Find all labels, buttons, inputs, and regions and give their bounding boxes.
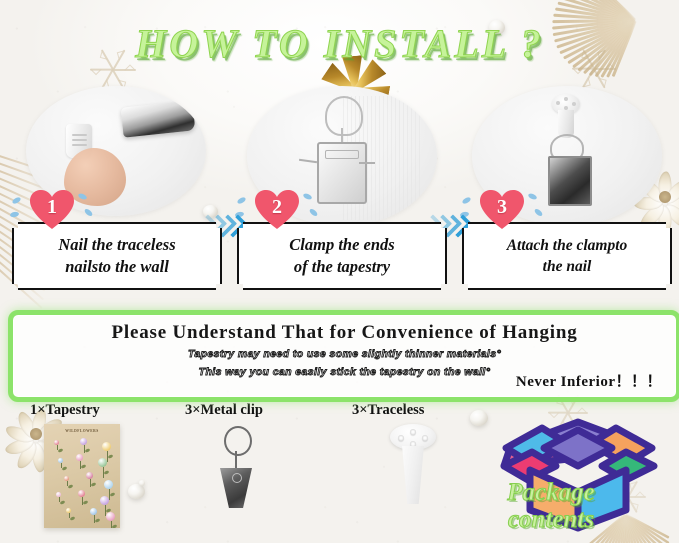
install-step-3: 3 Attach the clampto the nail: [458, 86, 673, 296]
clip-body: [317, 142, 367, 204]
step-number: 3: [480, 190, 524, 230]
package-item-label-traceless: 3×Traceless: [352, 402, 424, 419]
never-inferior-text: Never Inferior！！！: [516, 370, 662, 391]
step-number: 2: [255, 190, 299, 230]
step-3-caption: Attach the clampto the nail: [462, 222, 672, 290]
caption-line-1: Nail the traceless: [58, 236, 175, 255]
step-3-badge: 3: [480, 190, 524, 230]
package-badge-line-2: contents: [436, 507, 666, 532]
metal-clip-product-image: [216, 426, 256, 518]
metal-clip-body: [548, 156, 592, 206]
package-contents-section: 1×Tapestry 3×Metal clip 3×Traceless WILD…: [0, 396, 679, 543]
package-item-label-metal-clip: 3×Metal clip: [185, 402, 263, 419]
package-item-label-tapestry: 1×Tapestry: [30, 402, 100, 419]
nail-body: [400, 446, 426, 504]
install-step-2: 2 Clamp the ends of the tapestry: [233, 86, 448, 296]
splash-mark: [10, 211, 20, 218]
traceless-nail-product-image: [390, 424, 436, 508]
splash-mark: [11, 196, 21, 205]
splash-mark: [461, 196, 471, 205]
clip-loop: [325, 96, 363, 136]
install-steps: 1 Nail the traceless nailsto the wall: [0, 86, 679, 296]
step-1-badge: 1: [30, 190, 74, 230]
package-badge-line-1: Package: [507, 479, 594, 506]
install-step-1: 1 Nail the traceless nailsto the wall: [8, 86, 223, 296]
clip-loop: [224, 426, 252, 456]
caption-line-1: Attach the clampto: [507, 237, 628, 255]
package-contents-badge: Package contents: [436, 480, 666, 532]
step-1-caption: Nail the traceless nailsto the wall: [12, 222, 222, 290]
caption-line-2: the nail: [543, 258, 592, 276]
title-container: HOW TO INSTALL ?: [0, 20, 679, 67]
splash-mark: [236, 196, 246, 205]
clip-jaw: [220, 468, 252, 508]
page-title: HOW TO INSTALL ?: [135, 20, 543, 67]
clip-arm-left: [299, 159, 317, 164]
tapestry-title: WILDFLOWERS: [44, 429, 120, 433]
tapestry-product-image: WILDFLOWERS: [44, 424, 120, 528]
step-2-badge: 2: [255, 190, 299, 230]
clip-arm-right: [359, 162, 375, 164]
hammer-icon: [121, 100, 196, 137]
caption-line-1: Clamp the ends: [289, 236, 394, 255]
caption-line-2: of the tapestry: [294, 258, 390, 277]
caption-line-2: nailsto the wall: [65, 258, 169, 277]
promo-infographic: HOW TO INSTALL ? 1 Nail the traceless: [0, 0, 679, 543]
note-title: Please Understand That for Convenience o…: [13, 322, 676, 344]
hanging-note-box: Please Understand That for Convenience o…: [8, 310, 679, 402]
note-line-1: Tapestry may need to use some slightly t…: [13, 347, 676, 362]
step-2-caption: Clamp the ends of the tapestry: [237, 222, 447, 290]
step-number: 1: [30, 190, 74, 230]
